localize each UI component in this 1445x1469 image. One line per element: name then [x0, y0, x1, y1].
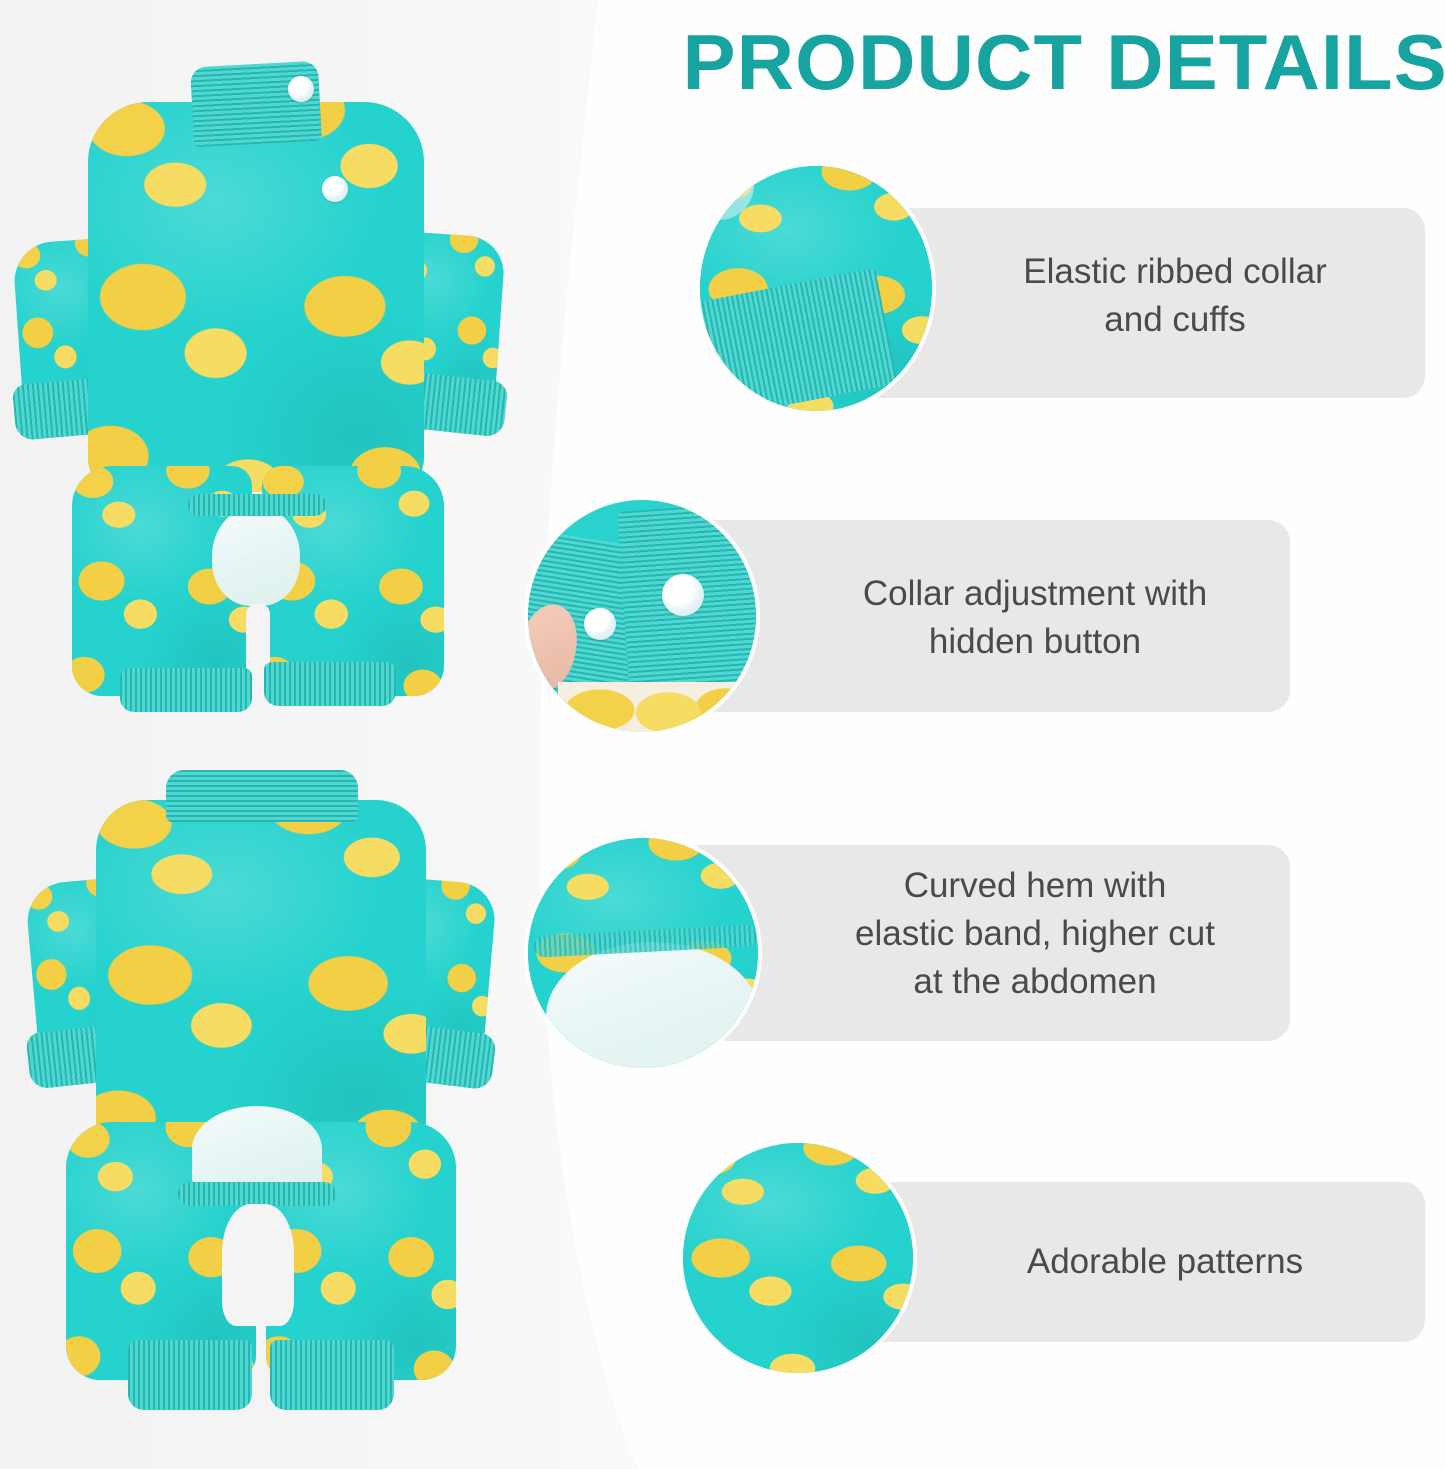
front-collar — [190, 61, 322, 148]
feature-text-3-line-2: elastic band, higher cut — [790, 910, 1280, 958]
back-right-leg-cuff — [270, 1340, 394, 1410]
feature-text-1: Elastic ribbed collar and cuffs — [930, 248, 1420, 344]
collar-button-detail-photo — [528, 500, 756, 732]
feature-text-3-line-3: at the abdomen — [790, 958, 1280, 1006]
front-left-leg-cuff — [120, 668, 252, 712]
back-torso — [96, 800, 426, 1150]
hidden-snap-button-small — [584, 608, 616, 640]
curved-hem-detail-photo — [528, 838, 758, 1068]
back-left-leg-cuff — [128, 1340, 252, 1410]
front-right-leg-cuff — [264, 662, 396, 706]
feature-text-4: Adorable patterns — [930, 1238, 1400, 1286]
collar-snap-button-top — [288, 76, 314, 102]
front-belly-elastic — [188, 494, 326, 516]
feature-text-3: Curved hem with elastic band, higher cut… — [790, 862, 1280, 1006]
feature-text-2: Collar adjustment with hidden button — [790, 570, 1280, 666]
feature-text-4-line-1: Adorable patterns — [930, 1238, 1400, 1286]
back-collar — [166, 770, 358, 822]
back-crotch-gap — [222, 1204, 294, 1326]
feature-text-1-line-1: Elastic ribbed collar — [930, 248, 1420, 296]
back-belly-elastic-band — [178, 1182, 336, 1206]
product-back-view — [10, 760, 510, 1420]
cuff-detail-photo — [700, 166, 932, 411]
page-title: PRODUCT DETAILS — [683, 18, 1443, 106]
infographic-canvas: PRODUCT DETAILS Elastic ribbed collar an… — [0, 0, 1445, 1469]
product-front-view — [10, 48, 510, 708]
front-belly-opening — [212, 506, 300, 606]
back-belly-lining — [192, 1106, 322, 1192]
front-torso — [88, 102, 424, 492]
feature-text-2-line-2: hidden button — [790, 618, 1280, 666]
collar-snap-button-lower — [322, 176, 348, 202]
feature-text-1-line-2: and cuffs — [930, 296, 1420, 344]
collar-photo-duck-edge — [558, 682, 748, 732]
feature-text-2-line-1: Collar adjustment with — [790, 570, 1280, 618]
feature-text-3-line-1: Curved hem with — [790, 862, 1280, 910]
hidden-snap-button-large — [662, 574, 704, 616]
duck-pattern-detail-photo — [683, 1143, 913, 1373]
